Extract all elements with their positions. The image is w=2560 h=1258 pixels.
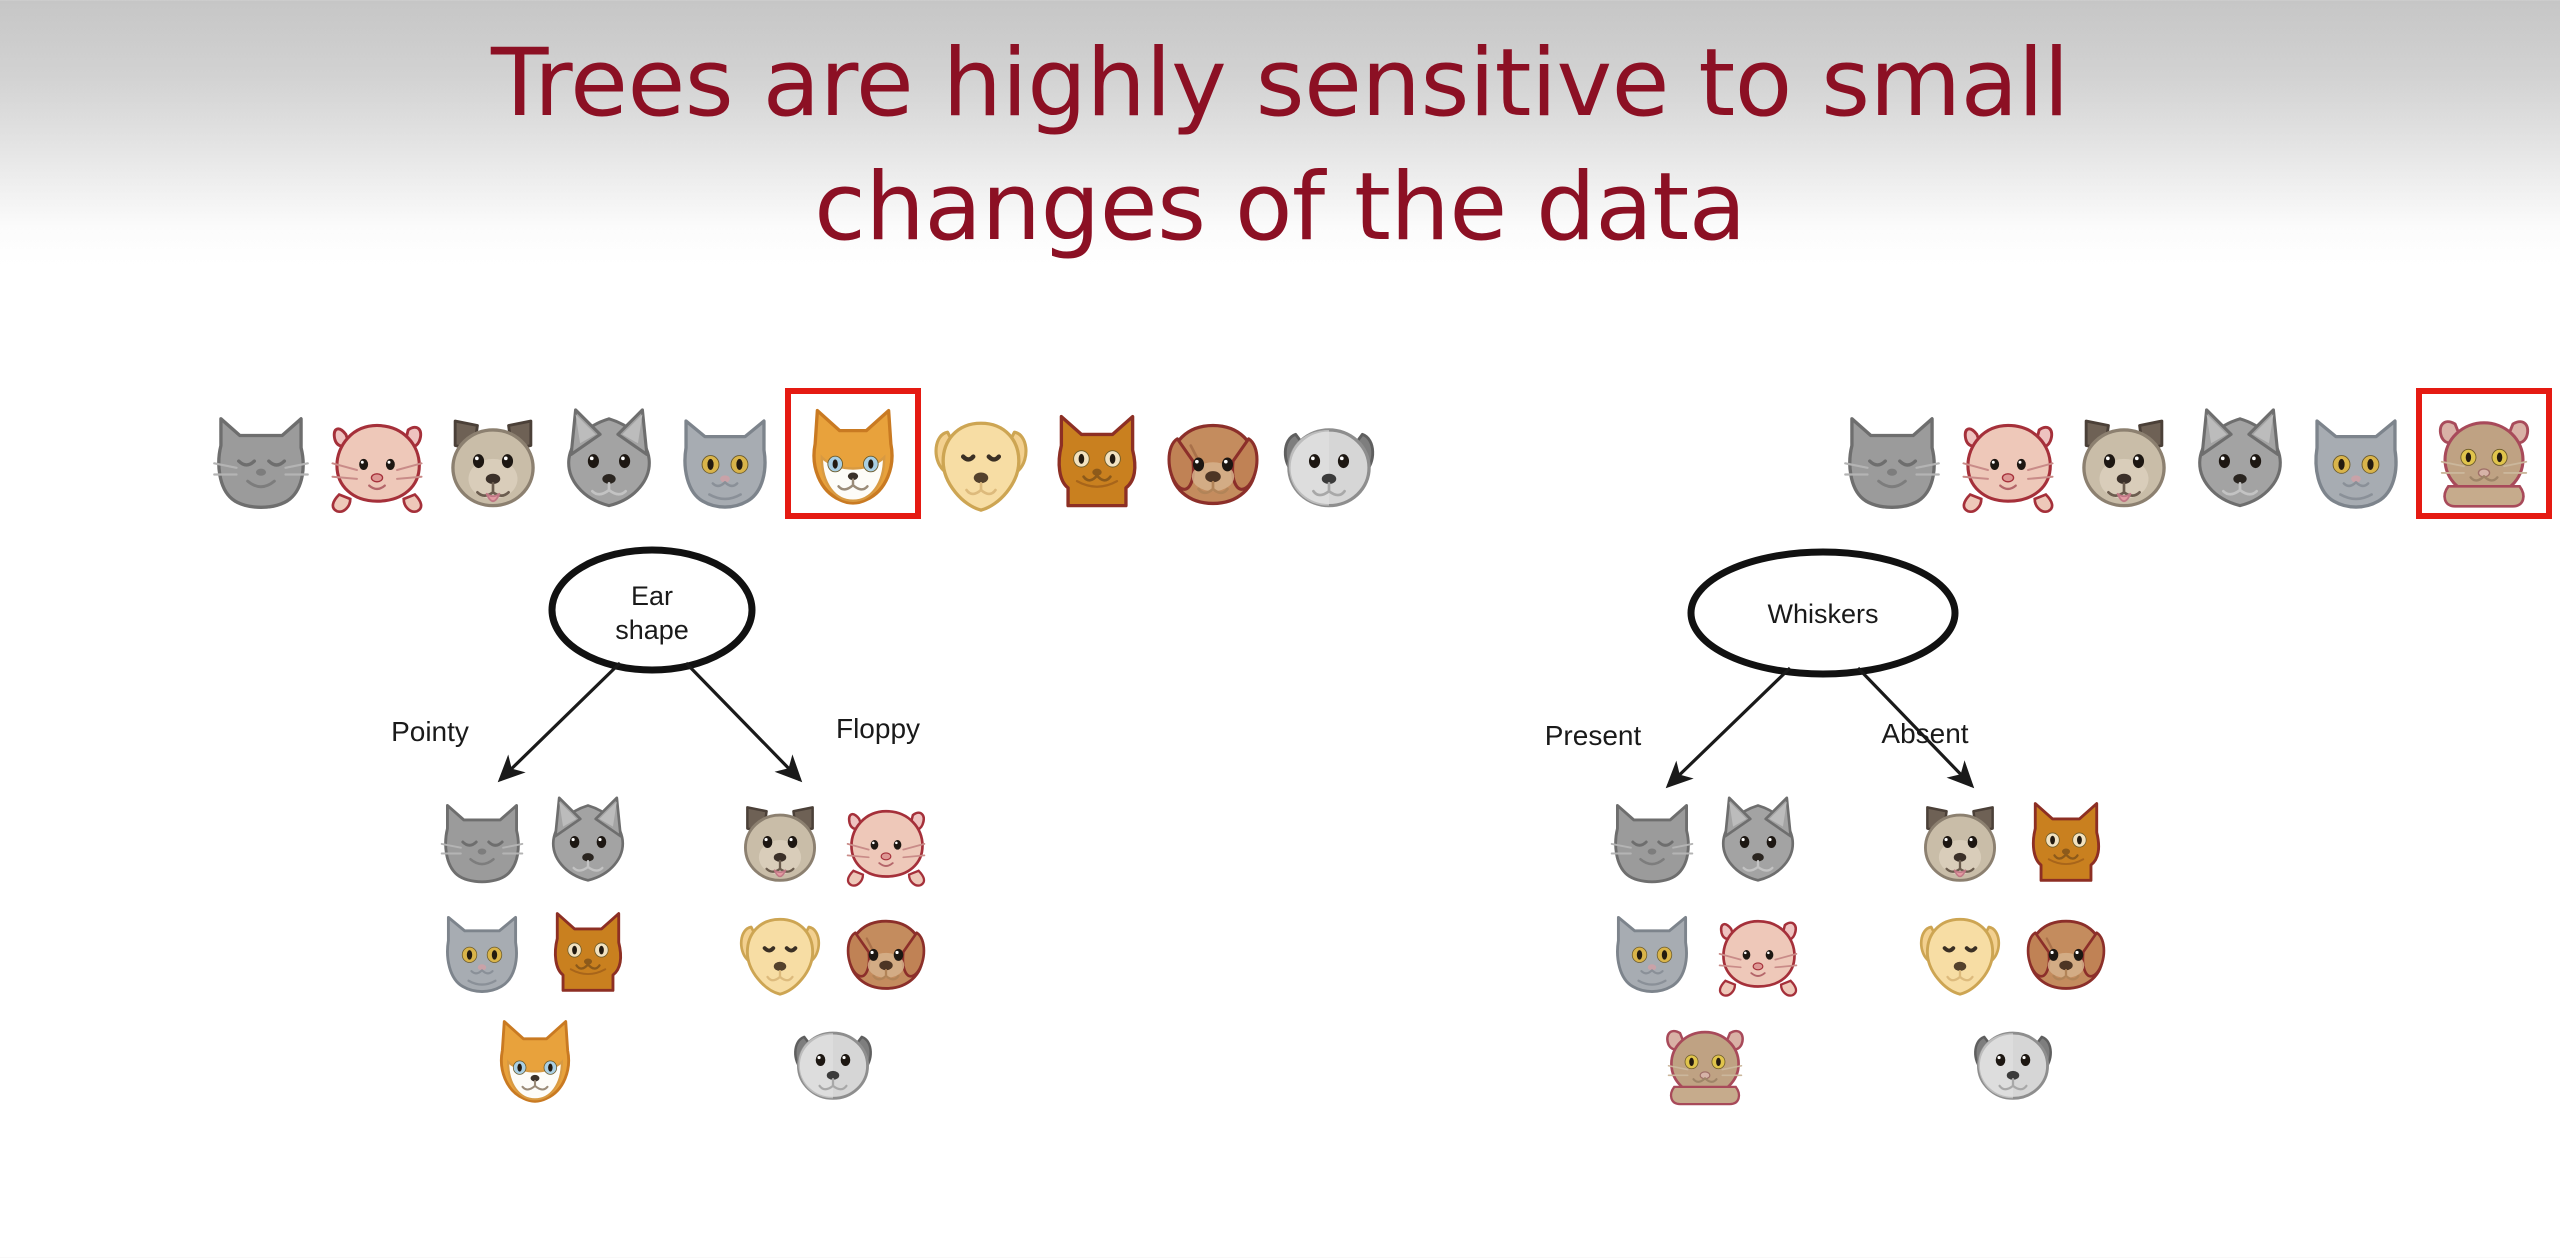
- leaf-row: [668, 790, 998, 892]
- pink-cat-icon[interactable]: [1710, 900, 1806, 1002]
- edge-floppy: [686, 663, 800, 780]
- slide-canvas: Trees are highly sensitive to small chan…: [0, 0, 2560, 1258]
- grey-cat-icon[interactable]: [434, 790, 530, 892]
- leaf-cluster-pointy: [370, 790, 700, 1110]
- edge-label-present: Present: [1545, 720, 1642, 751]
- leaf-cluster-absent: [1848, 790, 2178, 1110]
- leaf-row: [1540, 1008, 1870, 1110]
- leaf-row: [1540, 790, 1870, 892]
- grey-wolf-icon[interactable]: [540, 790, 636, 892]
- node-label-whiskers: Whiskers: [1767, 599, 1878, 629]
- pink-cat-icon[interactable]: [838, 790, 934, 892]
- brown-dog-icon[interactable]: [2018, 900, 2114, 1002]
- grey-cat-icon[interactable]: [1604, 790, 1700, 892]
- leaf-row: [668, 900, 998, 1002]
- golden-dog-icon[interactable]: [1912, 900, 2008, 1002]
- grey-bulldog-icon[interactable]: [785, 1008, 881, 1110]
- hamster-icon[interactable]: [1657, 1008, 1753, 1110]
- grey-wolf-icon[interactable]: [1710, 790, 1806, 892]
- brown-cat-icon[interactable]: [2018, 790, 2114, 892]
- leaf-cluster-present: [1540, 790, 1870, 1110]
- node-label-line-1: Ear: [631, 581, 673, 611]
- leaf-row: [1848, 790, 2178, 892]
- leaf-row: [370, 1008, 700, 1110]
- edge-label-absent: Absent: [1881, 718, 1968, 749]
- grey-cat-yellow-eyes-icon[interactable]: [1604, 900, 1700, 1002]
- grey-bulldog-icon[interactable]: [1965, 1008, 2061, 1110]
- panel-right-whiskers: Whiskers Present Absent: [1280, 0, 2560, 1258]
- brown-dog-icon[interactable]: [838, 900, 934, 1002]
- golden-dog-icon[interactable]: [732, 900, 828, 1002]
- grey-cat-yellow-eyes-icon[interactable]: [434, 900, 530, 1002]
- edge-present: [1668, 668, 1790, 786]
- brown-cat-icon[interactable]: [540, 900, 636, 1002]
- leaf-row: [370, 790, 700, 892]
- orange-fox-cat-icon[interactable]: [487, 1008, 583, 1110]
- leaf-row: [1848, 1008, 2178, 1110]
- edge-label-floppy: Floppy: [836, 713, 920, 744]
- leaf-cluster-floppy: [668, 790, 998, 1110]
- pug-dog-icon[interactable]: [1912, 790, 2008, 892]
- edge-label-pointy: Pointy: [391, 716, 469, 747]
- leaf-row: [668, 1008, 998, 1110]
- panel-left-ear-shape: Ear shape Pointy Floppy: [0, 0, 1280, 1258]
- node-label-line-2: shape: [615, 615, 689, 645]
- leaf-row: [1540, 900, 1870, 1002]
- edge-pointy: [500, 663, 620, 780]
- leaf-row: [1848, 900, 2178, 1002]
- leaf-row: [370, 900, 700, 1002]
- pug-dog-icon[interactable]: [732, 790, 828, 892]
